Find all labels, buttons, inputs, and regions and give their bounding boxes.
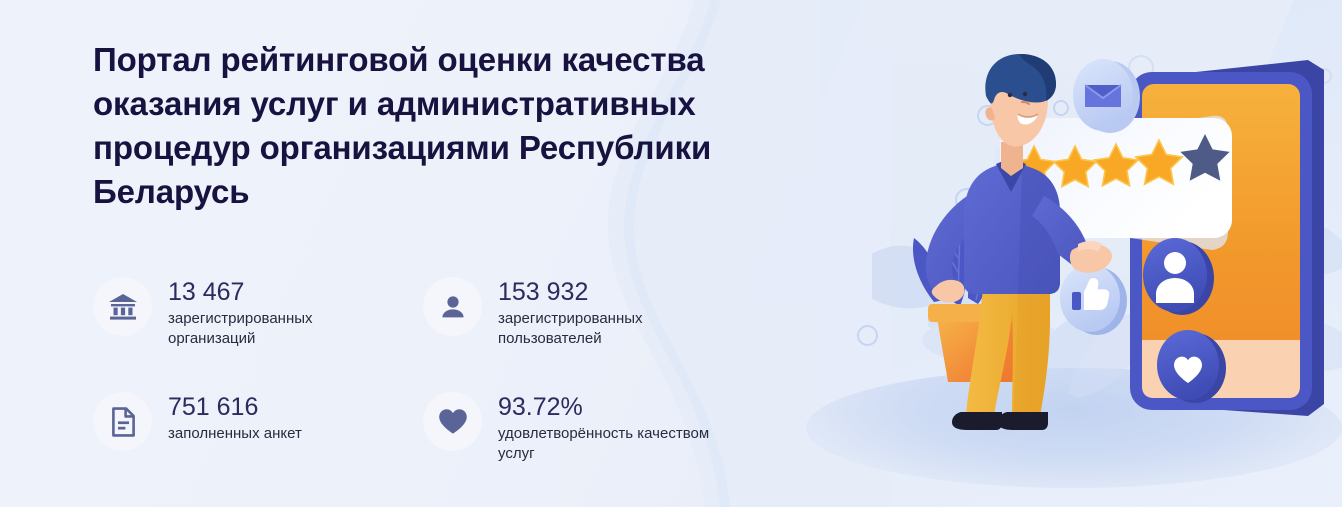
stat-label: зарегистрированных организаций <box>168 309 383 349</box>
stat-value: 93.72% <box>498 392 713 422</box>
stat-body: 153 932 зарегистрированных пользователей <box>498 275 713 349</box>
stat-label: заполненных анкет <box>168 424 302 444</box>
stat-body: 13 467 зарегистрированных организаций <box>168 275 383 349</box>
banner-content: Портал рейтинговой оценки качества оказа… <box>93 0 793 507</box>
stat-label: удовлетворённость качеством услуг <box>498 424 713 464</box>
stat-completed-forms: 751 616 заполненных анкет <box>93 390 423 505</box>
stat-registered-organizations: 13 467 зарегистрированных организаций <box>93 275 423 390</box>
document-icon <box>93 392 152 451</box>
stat-body: 93.72% удовлетворённость качеством услуг <box>498 390 713 464</box>
bank-icon <box>93 277 152 336</box>
user-icon <box>423 277 482 336</box>
stat-value: 13 467 <box>168 277 383 307</box>
heart-icon <box>423 392 482 451</box>
stat-value: 751 616 <box>168 392 302 422</box>
hero-banner: Портал рейтинговой оценки качества оказа… <box>0 0 1342 507</box>
statistics-grid: 13 467 зарегистрированных организаций 15… <box>93 275 773 505</box>
stat-registered-users: 153 932 зарегистрированных пользователей <box>423 275 753 390</box>
stat-body: 751 616 заполненных анкет <box>168 390 302 444</box>
hero-illustration <box>872 0 1342 507</box>
stat-satisfaction: 93.72% удовлетворённость качеством услуг <box>423 390 753 505</box>
page-title: Портал рейтинговой оценки качества оказа… <box>93 38 793 214</box>
stat-value: 153 932 <box>498 277 713 307</box>
stat-label: зарегистрированных пользователей <box>498 309 713 349</box>
